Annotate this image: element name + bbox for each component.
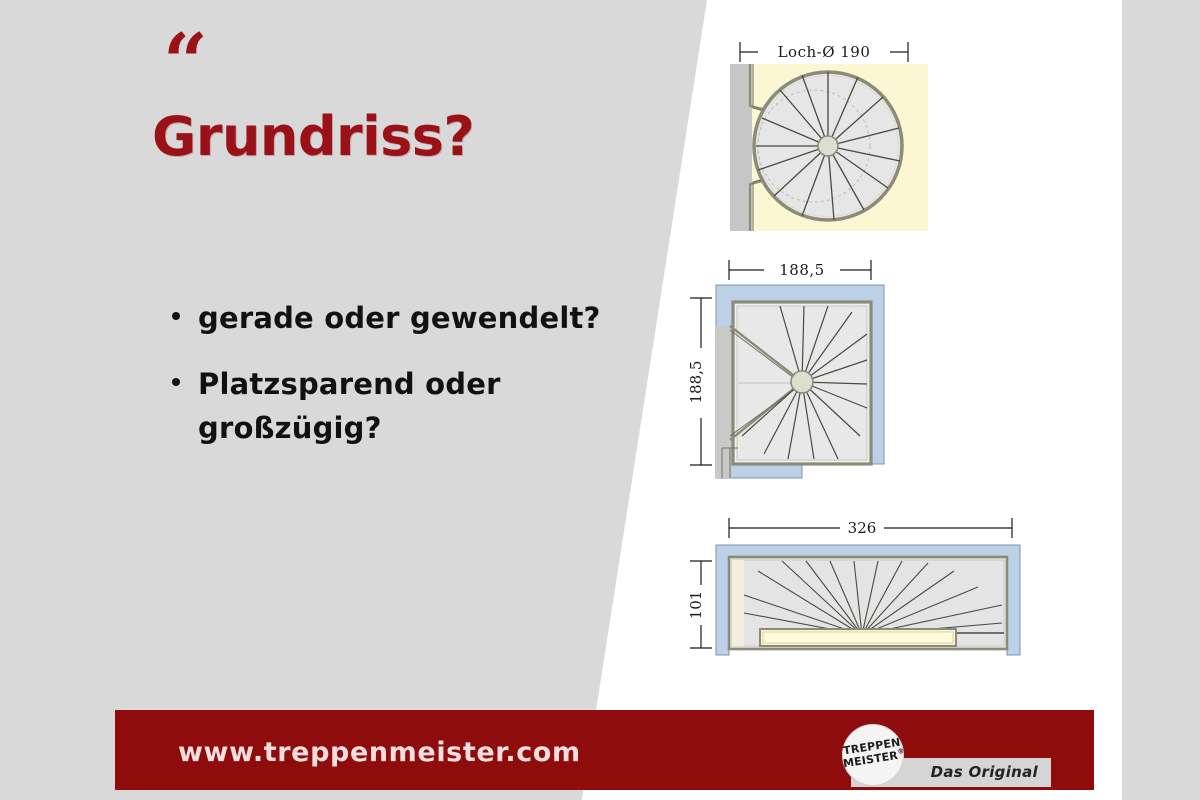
list-item: Platzsparend oder großzügig? [160, 362, 630, 450]
logo-tagline: Das Original [931, 763, 1038, 781]
bullet-list: gerade oder gewendelt? Platzsparend oder… [160, 296, 630, 472]
slide-canvas: “ Grundriss? gerade oder gewendelt? Plat… [0, 0, 1200, 800]
dimension-label-width: 326 [848, 519, 877, 537]
page-title: Grundriss? [152, 110, 474, 164]
logo-badge-icon: TREPPEN MEISTER® [842, 724, 904, 786]
treppenmeister-logo: Das Original TREPPEN MEISTER® [831, 726, 1051, 788]
dimension-label-width: 188,5 [779, 261, 824, 279]
fan-winder-staircase-drawing: 326 101 [672, 505, 1032, 675]
dimension-label-height: 101 [687, 591, 705, 620]
opening-quote-icon: “ [163, 24, 206, 102]
dimension-label-loch-d: Loch-Ø 190 [778, 43, 871, 61]
list-item: gerade oder gewendelt? [160, 296, 630, 340]
text-column: “ Grundriss? gerade oder gewendelt? Plat… [0, 0, 620, 800]
spiral-staircase-drawing: Loch-Ø 190 [710, 18, 940, 233]
logo-registered-mark: ® [897, 747, 905, 756]
footer-bar: www.treppenmeister.com Das Original TREP… [115, 710, 1094, 790]
website-url[interactable]: www.treppenmeister.com [178, 737, 581, 768]
dimension-label-height: 188,5 [687, 361, 705, 404]
square-winder-staircase-drawing: 188,5 188,5 [672, 250, 932, 490]
